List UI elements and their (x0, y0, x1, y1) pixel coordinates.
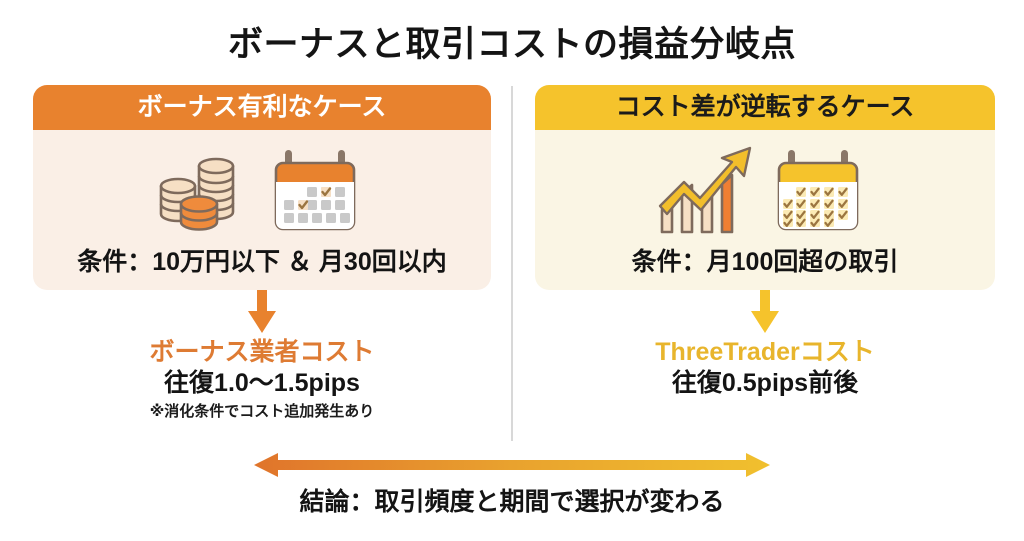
case-card-cost-reversal: コスト差が逆転するケース (535, 85, 995, 290)
cost-block-right: ThreeTraderコスト 往復0.5pips前後 (535, 338, 995, 399)
icon-row-right (535, 144, 995, 244)
card-header-right: コスト差が逆転するケース (535, 85, 995, 130)
cost-value-right: 往復0.5pips前後 (535, 367, 995, 400)
cost-note-left: ※消化条件でコスト追加発生あり (33, 401, 491, 422)
conclusion-text: 結論：取引頻度と期間で選択が変わる (0, 482, 1024, 518)
page-title: ボーナスと取引コストの損益分岐点 (0, 16, 1024, 67)
down-arrow-icon (245, 289, 279, 340)
cost-title-right: ThreeTraderコスト (535, 338, 995, 367)
card-body-right: 条件：月100回超の取引 (535, 130, 995, 290)
cost-title-left: ボーナス業者コスト (33, 338, 491, 367)
double-headed-arrow-icon (254, 452, 770, 478)
down-arrow-right-wrap (535, 290, 995, 338)
icon-row-left (33, 144, 491, 244)
condition-text-left: 条件：10万円以下 ＆ 月30回以内 (33, 242, 491, 278)
down-arrow-icon (748, 289, 782, 340)
case-column-right: コスト差が逆転するケース (535, 85, 995, 399)
coin-stack-icon (153, 144, 257, 245)
card-header-left: ボーナス有利なケース (33, 85, 491, 130)
conclusion-arrow-wrap (0, 452, 1024, 478)
growth-chart-icon (656, 144, 760, 245)
conclusion-section: 結論：取引頻度と期間で選択が変わる (0, 452, 1024, 518)
cost-block-left: ボーナス業者コスト 往復1.0〜1.5pips ※消化条件でコスト追加発生あり (33, 338, 491, 422)
cost-value-left: 往復1.0〜1.5pips (33, 367, 491, 400)
condition-text-right: 条件：月100回超の取引 (535, 242, 995, 278)
center-divider (511, 86, 513, 441)
calendar-icon (271, 144, 371, 245)
down-arrow-left-wrap (33, 290, 491, 338)
case-column-left: ボーナス有利なケース (33, 85, 491, 422)
case-card-bonus-advantage: ボーナス有利なケース (33, 85, 491, 290)
card-body-left: 条件：10万円以下 ＆ 月30回以内 (33, 130, 491, 290)
calendar-all-checked-icon (774, 144, 874, 245)
